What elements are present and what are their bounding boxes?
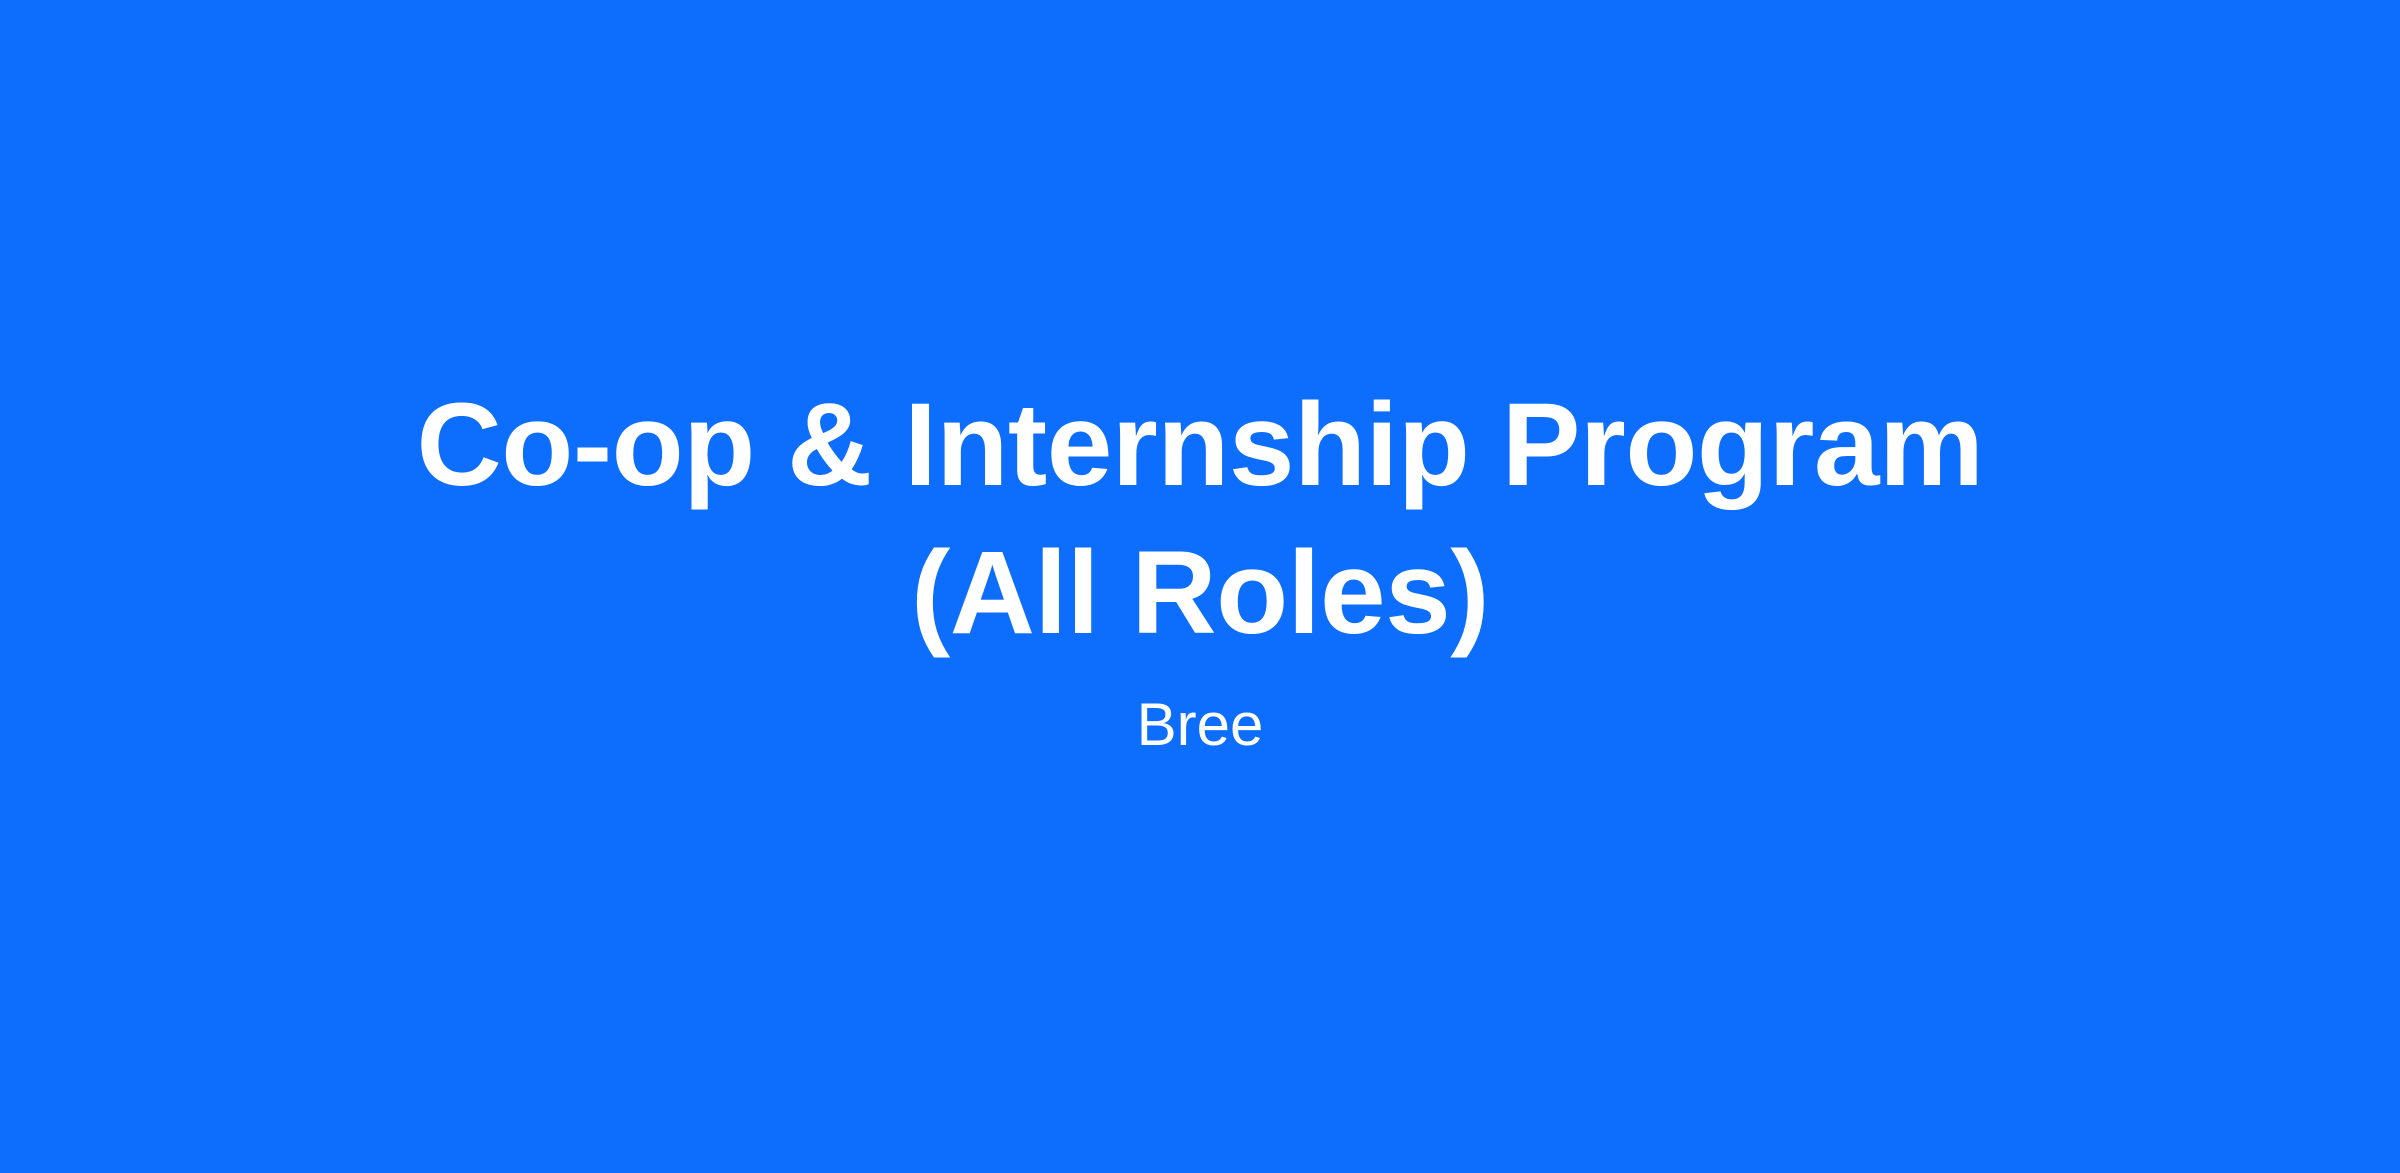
slide-subtitle: Bree [1137, 689, 1264, 761]
slide-canvas: Co-op & Internship Program (All Roles) B… [0, 0, 2400, 1173]
slide-text-block: Co-op & Internship Program (All Roles) B… [350, 372, 2050, 761]
slide-title: Co-op & Internship Program (All Roles) [350, 372, 2050, 667]
